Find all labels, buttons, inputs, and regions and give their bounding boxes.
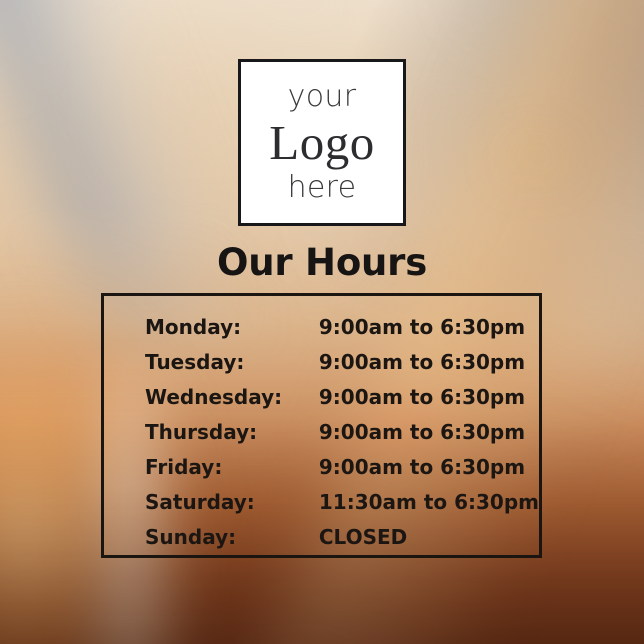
hours-row: Monday:9:00am to 6:30pm: [104, 309, 539, 344]
hours-day-label: Monday:: [104, 309, 319, 344]
hours-box: Monday:9:00am to 6:30pmTuesday:9:00am to…: [101, 293, 542, 558]
logo-text-logo: Logo: [269, 118, 374, 167]
hours-row: Wednesday:9:00am to 6:30pm: [104, 379, 539, 414]
hours-time-value: 9:00am to 6:30pm: [319, 379, 539, 414]
hours-day-label: Friday:: [104, 449, 319, 484]
hours-time-value: 9:00am to 6:30pm: [319, 309, 539, 344]
hours-time-value: 9:00am to 6:30pm: [319, 449, 539, 484]
hours-table: Monday:9:00am to 6:30pmTuesday:9:00am to…: [104, 309, 539, 554]
page-title: Our Hours: [0, 243, 644, 283]
hours-row: Friday:9:00am to 6:30pm: [104, 449, 539, 484]
hours-time-value: 9:00am to 6:30pm: [319, 344, 539, 379]
hours-poster: your Logo here Our Hours Monday:9:00am t…: [0, 0, 644, 644]
hours-row: Thursday:9:00am to 6:30pm: [104, 414, 539, 449]
hours-row: Tuesday:9:00am to 6:30pm: [104, 344, 539, 379]
hours-day-label: Sunday:: [104, 519, 319, 554]
hours-day-label: Wednesday:: [104, 379, 319, 414]
logo-text-your: your: [288, 82, 357, 112]
logo-placeholder-box[interactable]: your Logo here: [238, 59, 406, 226]
hours-day-label: Saturday:: [104, 484, 319, 519]
hours-row: Saturday:11:30am to 6:30pm: [104, 484, 539, 519]
hours-table-body: Monday:9:00am to 6:30pmTuesday:9:00am to…: [104, 309, 539, 554]
hours-day-label: Tuesday:: [104, 344, 319, 379]
hours-time-value: 11:30am to 6:30pm: [319, 484, 539, 519]
poster-content: your Logo here Our Hours Monday:9:00am t…: [0, 0, 644, 644]
hours-day-label: Thursday:: [104, 414, 319, 449]
hours-time-value: CLOSED: [319, 519, 539, 554]
hours-time-value: 9:00am to 6:30pm: [319, 414, 539, 449]
logo-text-here: here: [288, 173, 357, 203]
hours-row: Sunday:CLOSED: [104, 519, 539, 554]
